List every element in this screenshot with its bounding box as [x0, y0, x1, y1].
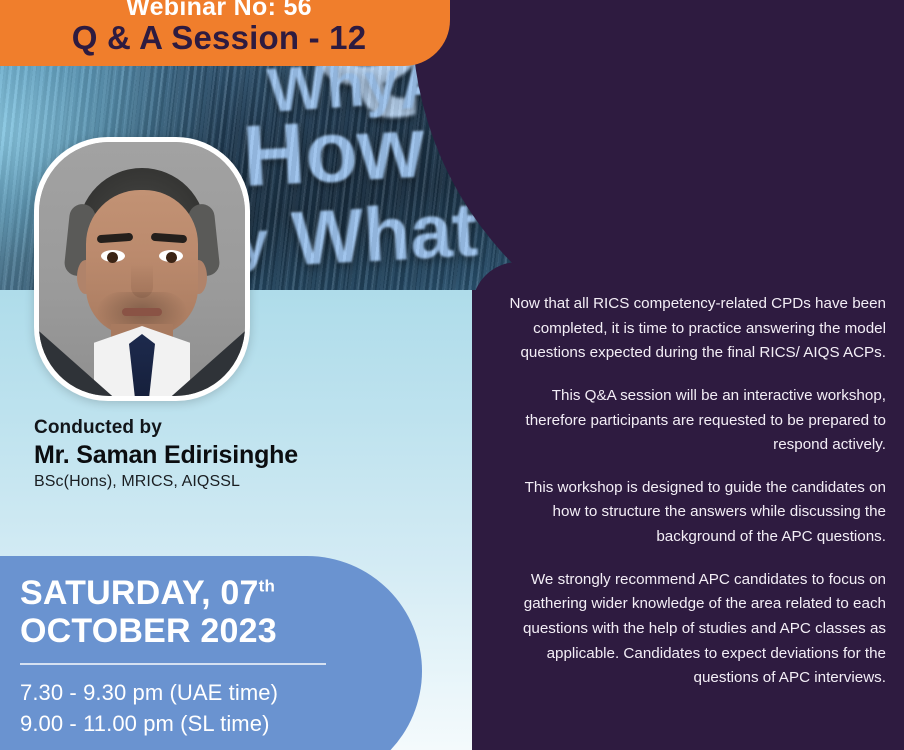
hero-word-where: Where	[537, 194, 750, 286]
schedule-time-sl: 9.00 - 11.00 pm (SL time)	[20, 708, 422, 739]
schedule-day-date: SATURDAY, 07th	[20, 574, 422, 612]
description-paragraph-3: This workshop is designed to guide the c…	[494, 476, 886, 550]
description-paragraph-1: Now that all RICS competency-related CPD…	[494, 292, 886, 366]
speaker-details: Conducted by Mr. Saman Edirisinghe BSc(H…	[34, 417, 434, 491]
session-title: Q & A Session - 12	[72, 21, 367, 56]
conducted-by-label: Conducted by	[34, 417, 434, 439]
webinar-poster: Q&A Why Answers Why How much Who What Wh…	[0, 0, 904, 750]
hero-word-who: Who	[685, 110, 760, 198]
hero-word-much: much	[467, 113, 659, 206]
speaker-qualifications: BSc(Hons), MRICS, AIQSSL	[34, 473, 434, 491]
speaker-photo	[39, 142, 245, 396]
webinar-number: Webinar No: 56	[126, 0, 312, 20]
description-paragraph-4: We strongly recommend APC candidates to …	[494, 568, 886, 691]
hero-word-what: What	[290, 186, 480, 283]
schedule-date-suffix: th	[259, 577, 275, 596]
schedule-day-date-text: SATURDAY, 07	[20, 574, 259, 612]
photo-mouth	[122, 308, 162, 316]
description-block: Now that all RICS competency-related CPD…	[494, 292, 886, 691]
speaker-name: Mr. Saman Edirisinghe	[34, 441, 434, 470]
photo-pupil-right	[166, 252, 177, 263]
schedule-month-year: OCTOBER 2023	[20, 612, 422, 650]
schedule-block: SATURDAY, 07th OCTOBER 2023 7.30 - 9.30 …	[0, 556, 422, 750]
photo-pupil-left	[107, 252, 118, 263]
orange-banner: Webinar No: 56 Q & A Session - 12	[0, 0, 450, 66]
description-paragraph-2: This Q&A session will be an interactive …	[494, 384, 886, 458]
speaker-photo-frame	[34, 137, 250, 401]
schedule-divider	[20, 663, 326, 665]
schedule-time-uae: 7.30 - 9.30 pm (UAE time)	[20, 677, 422, 708]
